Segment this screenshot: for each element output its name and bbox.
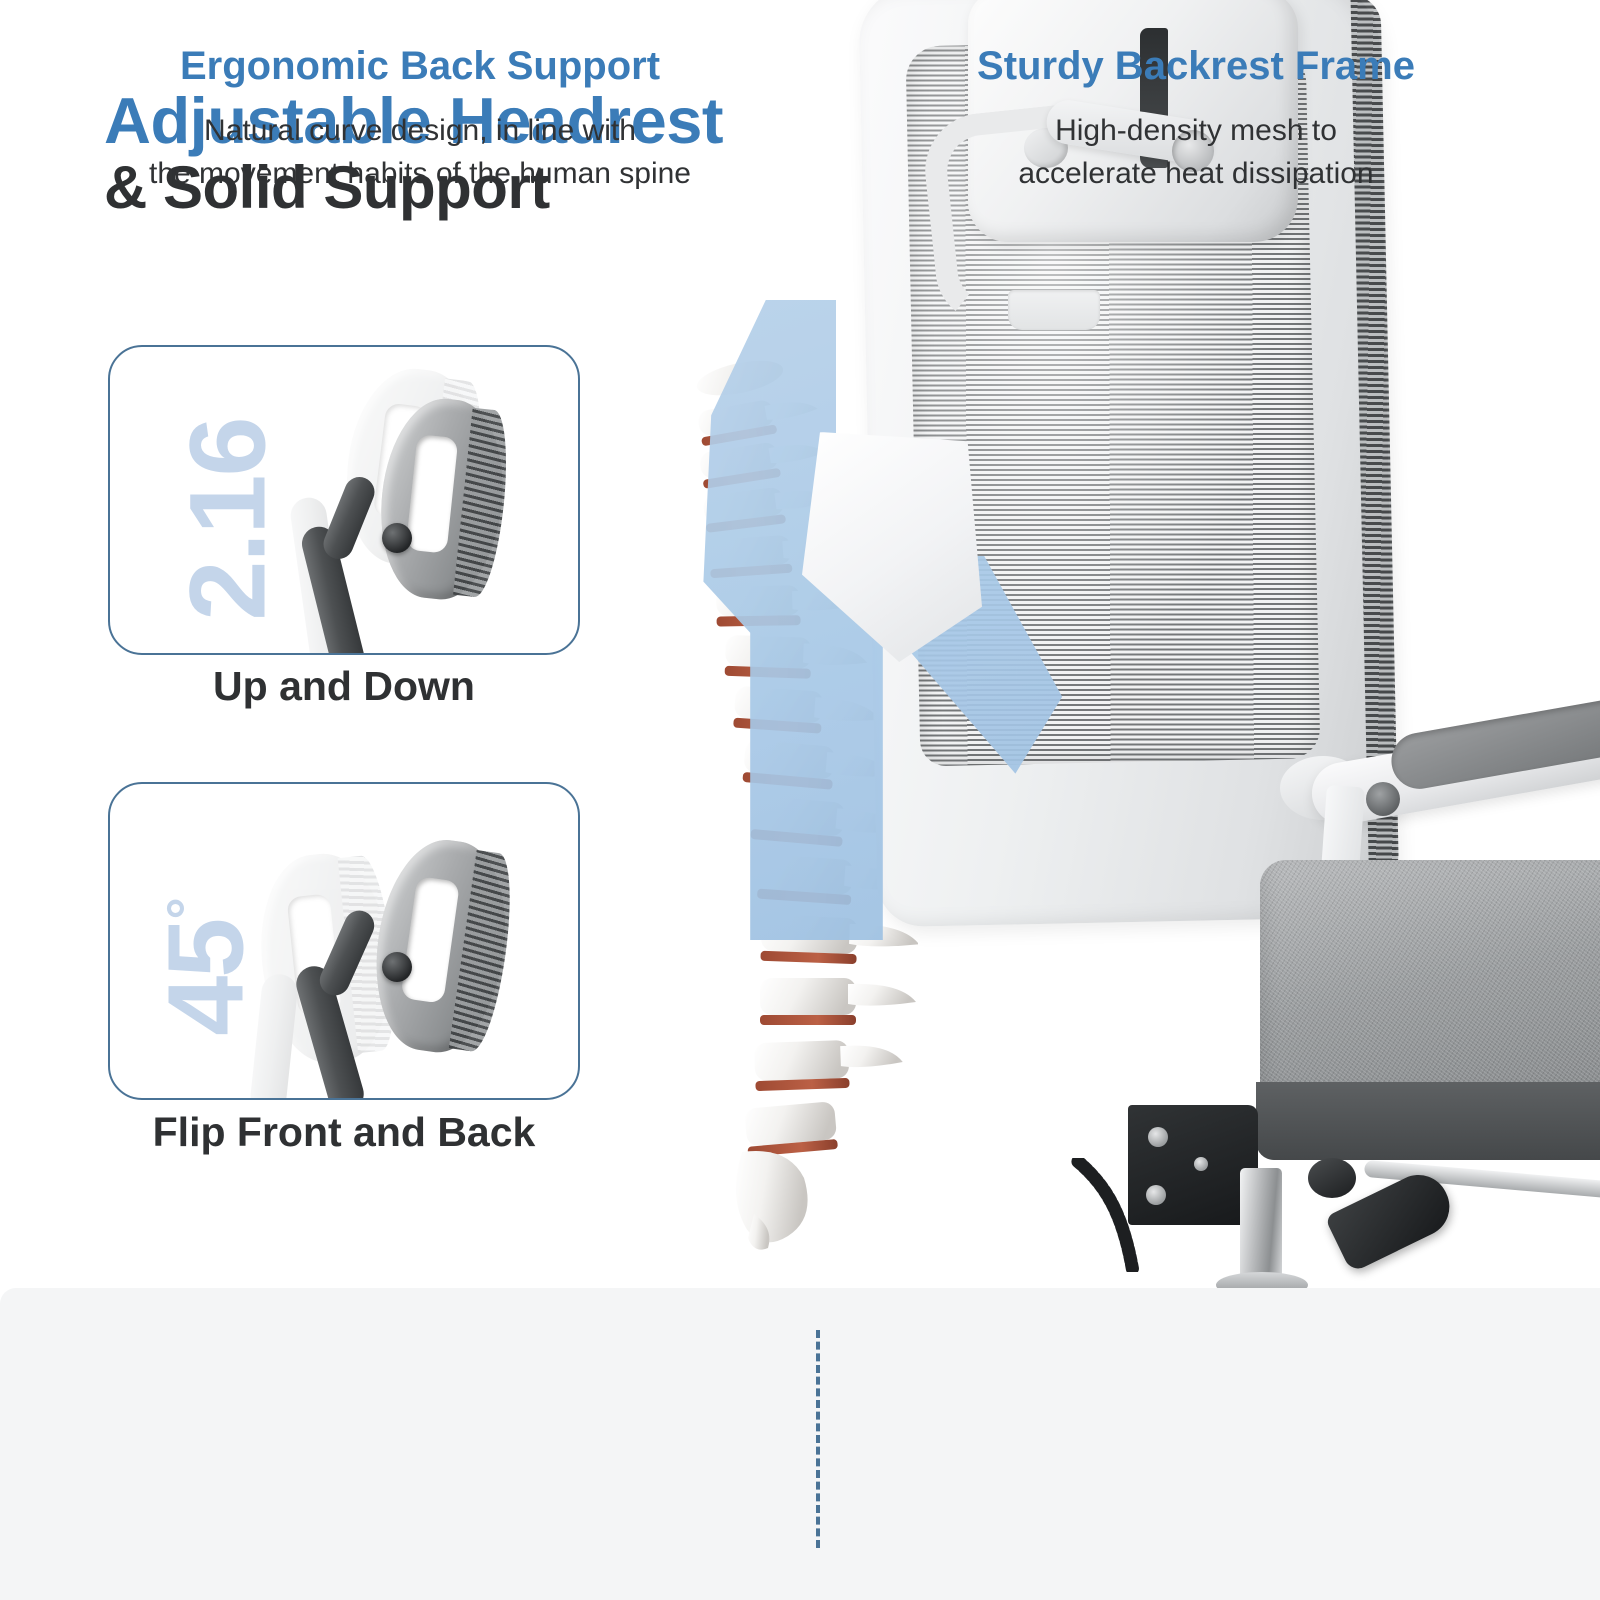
summary-desc-backrest-frame: High-density mesh to accelerate heat dis… [836, 110, 1556, 195]
feature-card-label-flip: Flip Front and Back [108, 1108, 580, 1156]
lever-joint [1308, 1158, 1356, 1198]
vertical-dashed-divider [816, 1330, 820, 1548]
feature-summary-band [0, 1288, 1600, 1600]
summary-desc-line-2: the movement habits of the human spine [40, 153, 800, 196]
seat-cushion [1260, 860, 1600, 1110]
armrest-adjust-hole [1366, 782, 1400, 816]
summary-block-backrest-frame: Sturdy Backrest Frame High-density mesh … [836, 42, 1556, 195]
summary-title-backrest-frame: Sturdy Backrest Frame [836, 42, 1556, 90]
summary-block-back-support: Ergonomic Back Support Natural curve des… [40, 42, 800, 195]
summary-title-back-support: Ergonomic Back Support [40, 42, 800, 90]
summary-desc-line-1: Natural curve design, in line with [40, 110, 800, 153]
summary-desc-line-1: High-density mesh to [836, 110, 1556, 153]
summary-desc-line-2: accelerate heat dissipation [836, 153, 1556, 196]
backrest-brand-badge [1008, 290, 1100, 330]
headrest-height-illustration [110, 347, 578, 653]
mounting-screw [1148, 1127, 1168, 1147]
summary-desc-back-support: Natural curve design, in line with the m… [40, 110, 800, 195]
headrest-tilt-illustration [110, 784, 578, 1098]
seat-underside [1256, 1082, 1600, 1160]
feature-card-flip: 45° [108, 782, 580, 1100]
feature-card-label-up-down: Up and Down [108, 662, 580, 710]
control-cable [1052, 1158, 1202, 1288]
feature-card-up-down: 2.16 [108, 345, 580, 655]
